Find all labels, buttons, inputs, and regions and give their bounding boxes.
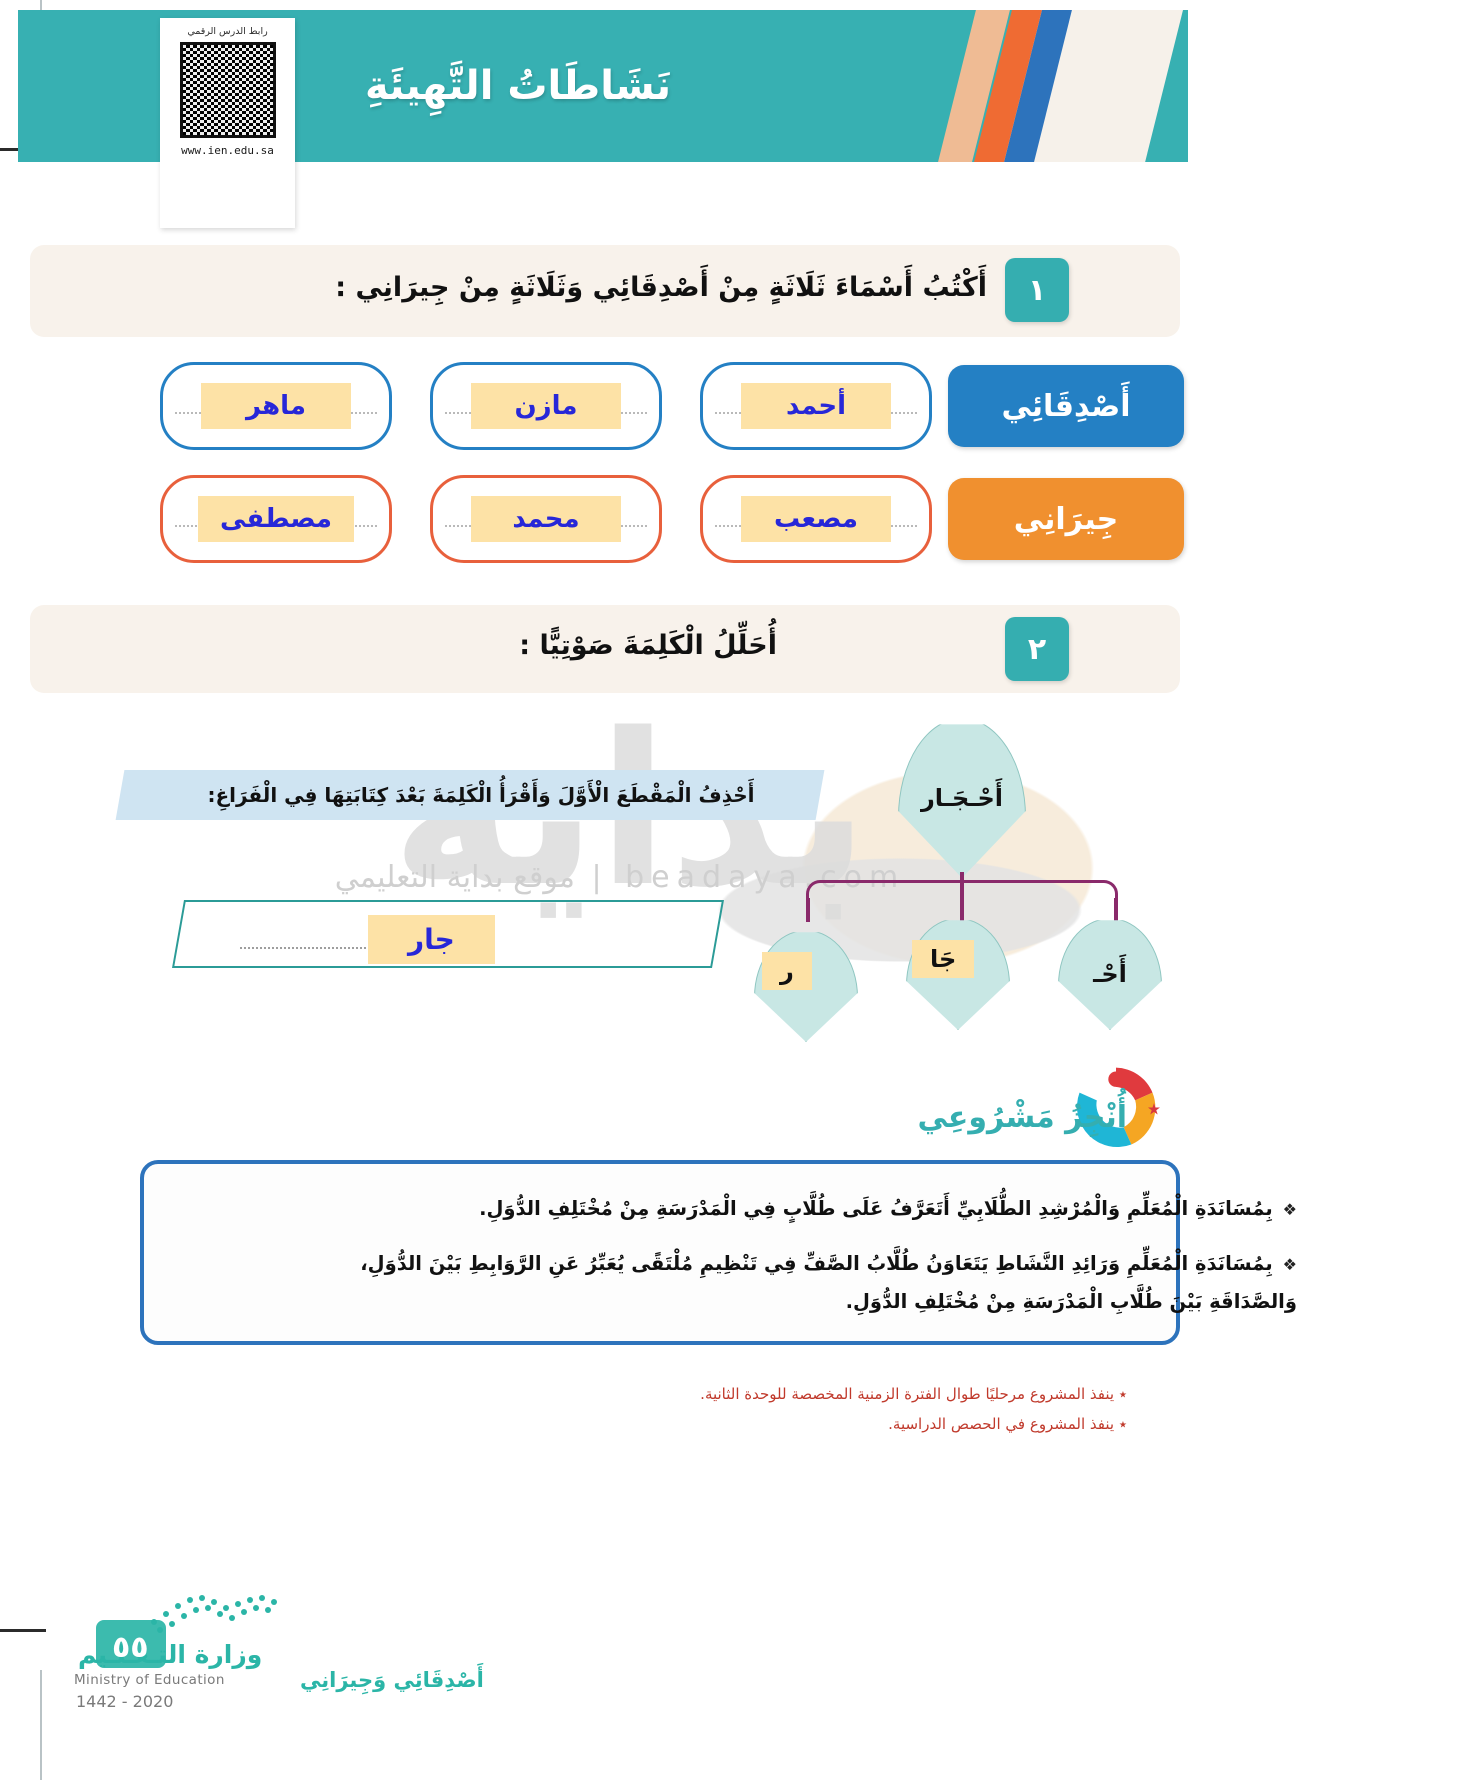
page-number: ٥٥ (112, 1630, 149, 1665)
exercise-2-number: ٢ (1005, 617, 1069, 681)
bullet-icon: ❖ (1283, 1194, 1297, 1225)
answer-cell-neighbor-1[interactable]: مصعب (700, 475, 932, 563)
exercise-1-prompt: أَكْتُبُ أَسْمَاءَ ثَلَاثَةٍ مِنْ أَصْدِ… (335, 272, 987, 303)
answer-cell-friend-2[interactable]: مازن (430, 362, 662, 450)
word-bubble-root: أَحْـجَـار (898, 718, 1026, 878)
answer-cell-neighbor-2[interactable]: محمد (430, 475, 662, 563)
unit-label: أَصْدِقَائِي وَجِيرَانِي (300, 1668, 484, 1692)
footnote-2: ٭ ينفذ المشروع في الحصص الدراسية. (888, 1415, 1127, 1433)
instruction-text: أَحْذِفُ الْمَقْطَعَ الْأَوَّلَ وَأَقْرَ… (136, 776, 826, 814)
crop-mark-horizontal-bottom (0, 1629, 46, 1632)
edition-year: 2020 - 1442 (76, 1692, 173, 1711)
textbook-page: نَشَاطَاتُ التَّهِيئَةِ رابط الدرس الرقم… (0, 0, 1457, 1780)
answer-word: مصطفى (198, 496, 354, 542)
qr-code-icon (180, 42, 276, 138)
answer-word: مصعب (741, 496, 891, 542)
syllable-label-2: جَا (912, 940, 974, 978)
qr-caption: رابط الدرس الرقمي (187, 26, 267, 37)
ministry-name-english: Ministry of Education (74, 1672, 225, 1688)
syllable-bubble-1: أَحْـ (1058, 918, 1162, 1030)
digital-lesson-qr-card[interactable]: رابط الدرس الرقمي www.ien.edu.sa (160, 18, 295, 228)
bullet-icon: ❖ (1283, 1249, 1297, 1280)
category-neighbors: جِيرَانِي (948, 478, 1184, 560)
project-item-1: ❖بِمُسَانَدَةِ الْمُعَلِّمِ وَالْمُرْشِد… (317, 1190, 1297, 1228)
exercise-2-prompt: أُحَلِّلُ الْكَلِمَةَ صَوْتِيًّا : (519, 630, 777, 661)
ministry-dots-icon (148, 1592, 288, 1638)
answer-word: محمد (471, 496, 621, 542)
answer-word: أحمد (741, 383, 891, 429)
tree-stem-left (806, 898, 810, 922)
category-friends: أَصْدِقَائِي (948, 365, 1184, 447)
project-item-2-text: بِمُسَانَدَةِ الْمُعَلِّمِ وَرَائِدِ الن… (360, 1252, 1297, 1313)
answer-slot-word: جار (368, 915, 495, 964)
qr-url-label: www.ien.edu.sa (181, 144, 274, 157)
project-title: أُنْجِزُ مَشْرُوعِي (917, 1100, 1127, 1135)
exercise-1-number: ١ (1005, 258, 1069, 322)
project-star-marker: ٭ (1147, 1094, 1161, 1124)
syllable-label-3: ر (762, 952, 812, 990)
word-root-label: أَحْـجَـار (921, 784, 1003, 812)
tree-stem-middle (960, 880, 964, 922)
ministry-name-arabic: وزارة التـعـلـيم (78, 1640, 262, 1669)
footnote-1: ٭ ينفذ المشروع مرحليًا طوال الفترة الزمن… (700, 1385, 1127, 1403)
tree-stem-right (1114, 898, 1118, 922)
answer-cell-neighbor-3[interactable]: مصطفى (160, 475, 392, 563)
syllable-label-1: أَحْـ (1093, 960, 1127, 988)
project-item-2: ❖بِمُسَانَدَةِ الْمُعَلِّمِ وَرَائِدِ ال… (317, 1245, 1297, 1321)
crop-mark-vertical-bottom (40, 1670, 42, 1780)
answer-word: مازن (471, 383, 621, 429)
answer-word: ماهر (201, 383, 351, 429)
answer-cell-friend-3[interactable]: ماهر (160, 362, 392, 450)
answer-cell-friend-1[interactable]: أحمد (700, 362, 932, 450)
project-item-1-text: بِمُسَانَدَةِ الْمُعَلِّمِ وَالْمُرْشِدِ… (479, 1197, 1273, 1220)
